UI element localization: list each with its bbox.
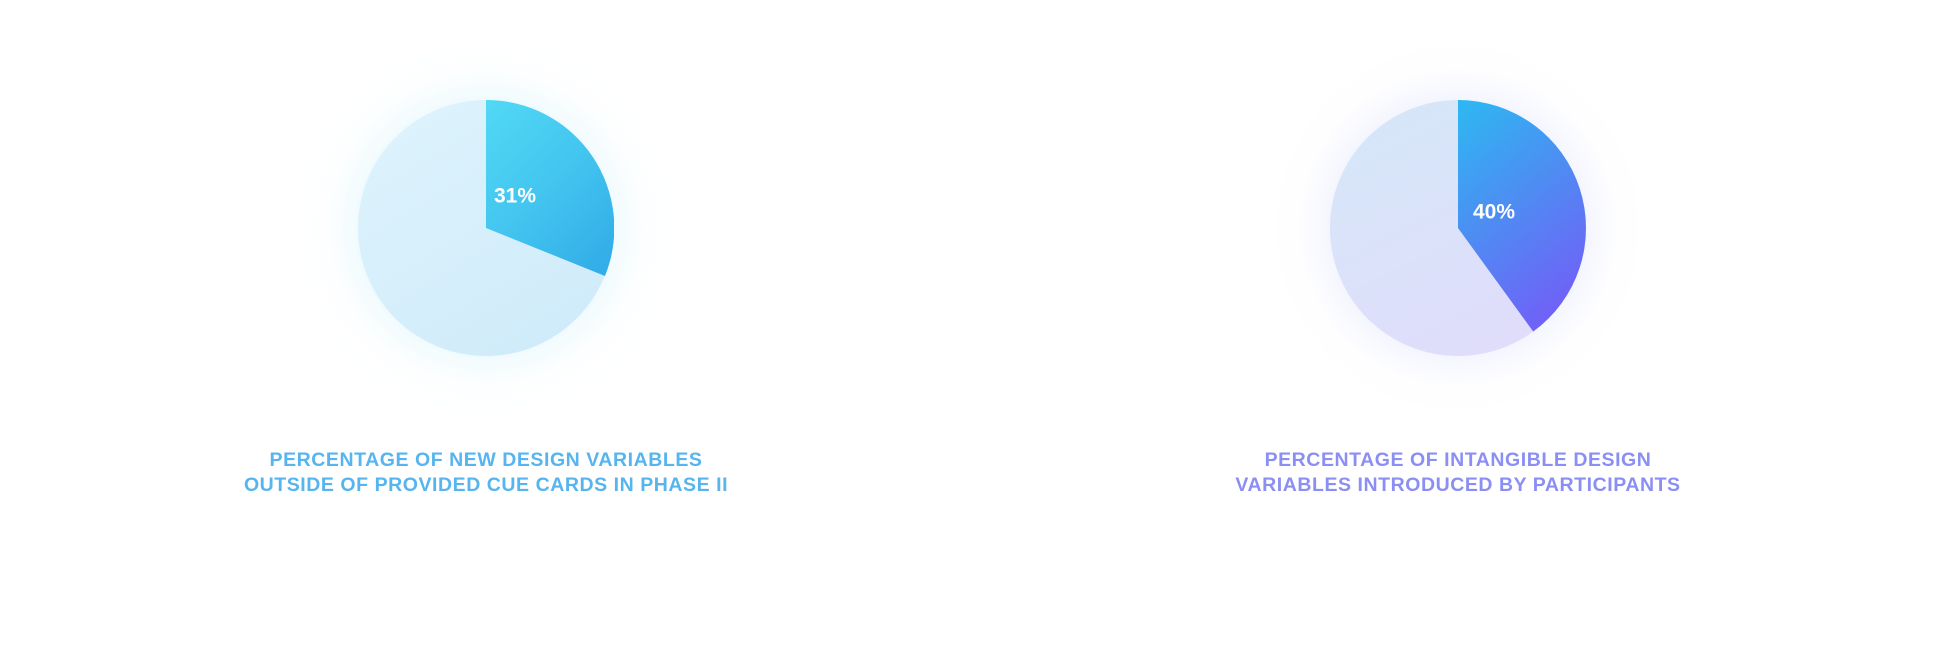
pie-chart-panel-intangible-design-variables: 40% PERCENTAGE OF INTANGIBLE DESIGN VARI… bbox=[972, 0, 1944, 656]
pie-chart-intangible-design-variables: 40% bbox=[1330, 100, 1586, 356]
pie-caption-line-2: OUTSIDE OF PROVIDED CUE CARDS IN PHASE I… bbox=[106, 473, 866, 498]
pie-chart-panel-new-design-variables: 31% PERCENTAGE OF NEW DESIGN VARIABLES O… bbox=[0, 0, 972, 656]
pie-slice-percent-label: 31% bbox=[494, 185, 536, 208]
pie-chart-new-design-variables: 31% bbox=[358, 100, 614, 356]
infographic-canvas: 31% PERCENTAGE OF NEW DESIGN VARIABLES O… bbox=[0, 0, 1944, 656]
pie-slice-percent-label: 40% bbox=[1473, 201, 1515, 224]
pie-caption-new-design-variables: PERCENTAGE OF NEW DESIGN VARIABLES OUTSI… bbox=[106, 448, 866, 498]
pie-caption-intangible-design-variables: PERCENTAGE OF INTANGIBLE DESIGN VARIABLE… bbox=[1078, 448, 1838, 498]
pie-svg-intangible-design-variables: 40% bbox=[1330, 100, 1586, 356]
pie-svg-new-design-variables: 31% bbox=[358, 100, 614, 356]
pie-caption-line-1: PERCENTAGE OF NEW DESIGN VARIABLES bbox=[106, 448, 866, 473]
pie-caption-line-1: PERCENTAGE OF INTANGIBLE DESIGN bbox=[1078, 448, 1838, 473]
pie-caption-line-2: VARIABLES INTRODUCED BY PARTICIPANTS bbox=[1078, 473, 1838, 498]
